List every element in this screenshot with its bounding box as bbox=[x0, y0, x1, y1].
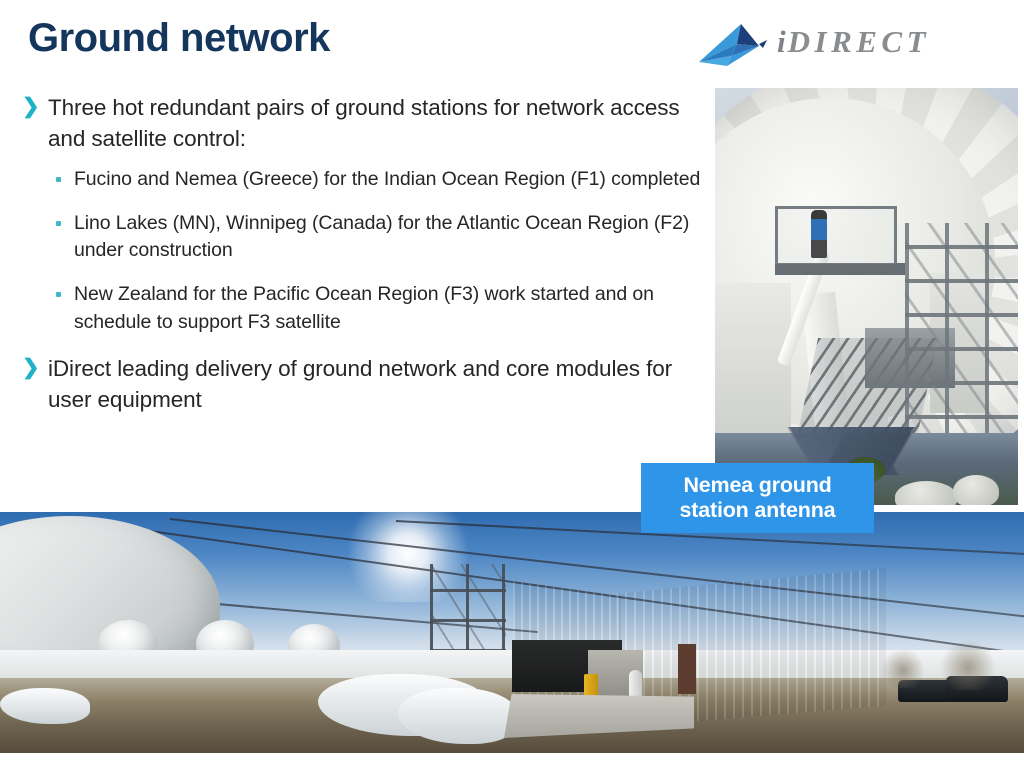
sub-bullet-list: Fucino and Nemea (Greece) for the Indian… bbox=[48, 166, 708, 336]
bare-tree bbox=[938, 634, 998, 690]
page-title: Ground network bbox=[28, 16, 330, 60]
logo-letter-i: i bbox=[777, 24, 788, 59]
caption-line-2: station antenna bbox=[680, 498, 836, 523]
antenna-work-platform bbox=[775, 263, 905, 275]
nemea-antenna-photo bbox=[715, 88, 1018, 505]
antenna-photo-bush bbox=[895, 481, 957, 505]
building-door bbox=[678, 644, 696, 694]
slide-root: Ground network iDIRECT ❯ Three hot redun… bbox=[0, 0, 1024, 768]
bullet-level2-1-text: Fucino and Nemea (Greece) for the Indian… bbox=[74, 166, 708, 194]
bullet-level2-2-text: Lino Lakes (MN), Winnipeg (Canada) for t… bbox=[74, 210, 708, 265]
bullet-level1-1: ❯ Three hot redundant pairs of ground st… bbox=[18, 92, 708, 154]
bullet-level2-3: New Zealand for the Pacific Ocean Region… bbox=[48, 281, 708, 336]
bullet-level2-3-text: New Zealand for the Pacific Ocean Region… bbox=[74, 281, 708, 336]
bullet-level1-2-text: iDirect leading delivery of ground netwo… bbox=[48, 353, 708, 415]
bullet-level1-2: ❯ iDirect leading delivery of ground net… bbox=[18, 353, 708, 415]
bullet-level1-1-text: Three hot redundant pairs of ground stat… bbox=[48, 92, 708, 154]
ground-station-panorama-photo bbox=[0, 512, 1024, 753]
antenna-worker bbox=[811, 210, 827, 258]
bare-tree bbox=[880, 644, 926, 688]
idirect-star-icon bbox=[697, 22, 779, 68]
bullet-list: ❯ Three hot redundant pairs of ground st… bbox=[18, 92, 708, 417]
chevron-right-icon: ❯ bbox=[22, 96, 40, 116]
bullet-level2-2: Lino Lakes (MN), Winnipeg (Canada) for t… bbox=[48, 210, 708, 265]
square-dot-icon bbox=[56, 177, 61, 182]
antenna-platform-railing bbox=[775, 206, 897, 264]
antenna-photo-bush bbox=[953, 475, 999, 505]
bullet-level2-1: Fucino and Nemea (Greece) for the Indian… bbox=[48, 166, 708, 194]
photo-caption: Nemea ground station antenna bbox=[641, 463, 874, 533]
caption-line-1: Nemea ground bbox=[683, 473, 831, 498]
square-dot-icon bbox=[56, 292, 61, 297]
square-dot-icon bbox=[56, 221, 61, 226]
chevron-right-icon: ❯ bbox=[22, 357, 40, 377]
idirect-wordmark: iDIRECT bbox=[777, 24, 930, 60]
logo-word-direct: DIRECT bbox=[788, 24, 930, 59]
idirect-logo: iDIRECT bbox=[697, 18, 997, 70]
